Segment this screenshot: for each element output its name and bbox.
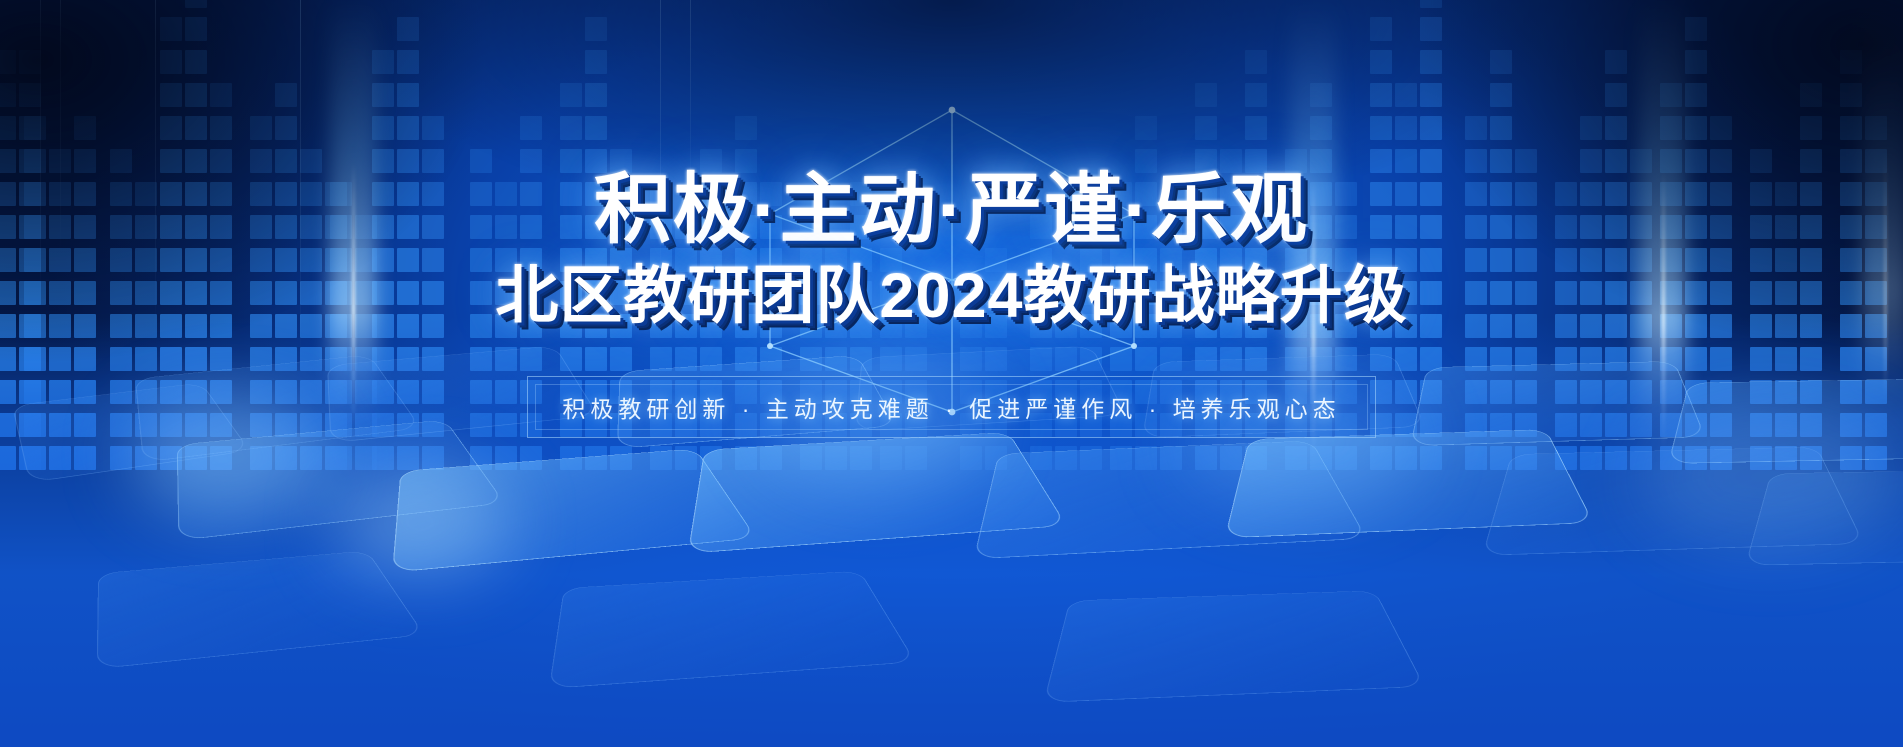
tagline-frame: 积极教研创新 · 主动攻克难题 · 促进严谨作风 · 培养乐观心态: [527, 376, 1375, 438]
event-banner: 积极·主动·严谨·乐观 北区教研团队2024教研战略升级 积极教研创新 · 主动…: [0, 0, 1903, 747]
banner-content: 积极·主动·严谨·乐观 北区教研团队2024教研战略升级 积极教研创新 · 主动…: [0, 0, 1903, 747]
banner-title-sub: 北区教研团队2024教研战略升级: [495, 265, 1407, 328]
banner-title-main: 积极·主动·严谨·乐观: [594, 172, 1309, 249]
banner-tagline: 积极教研创新 · 主动攻克难题 · 促进严谨作风 · 培养乐观心态: [562, 390, 1340, 424]
